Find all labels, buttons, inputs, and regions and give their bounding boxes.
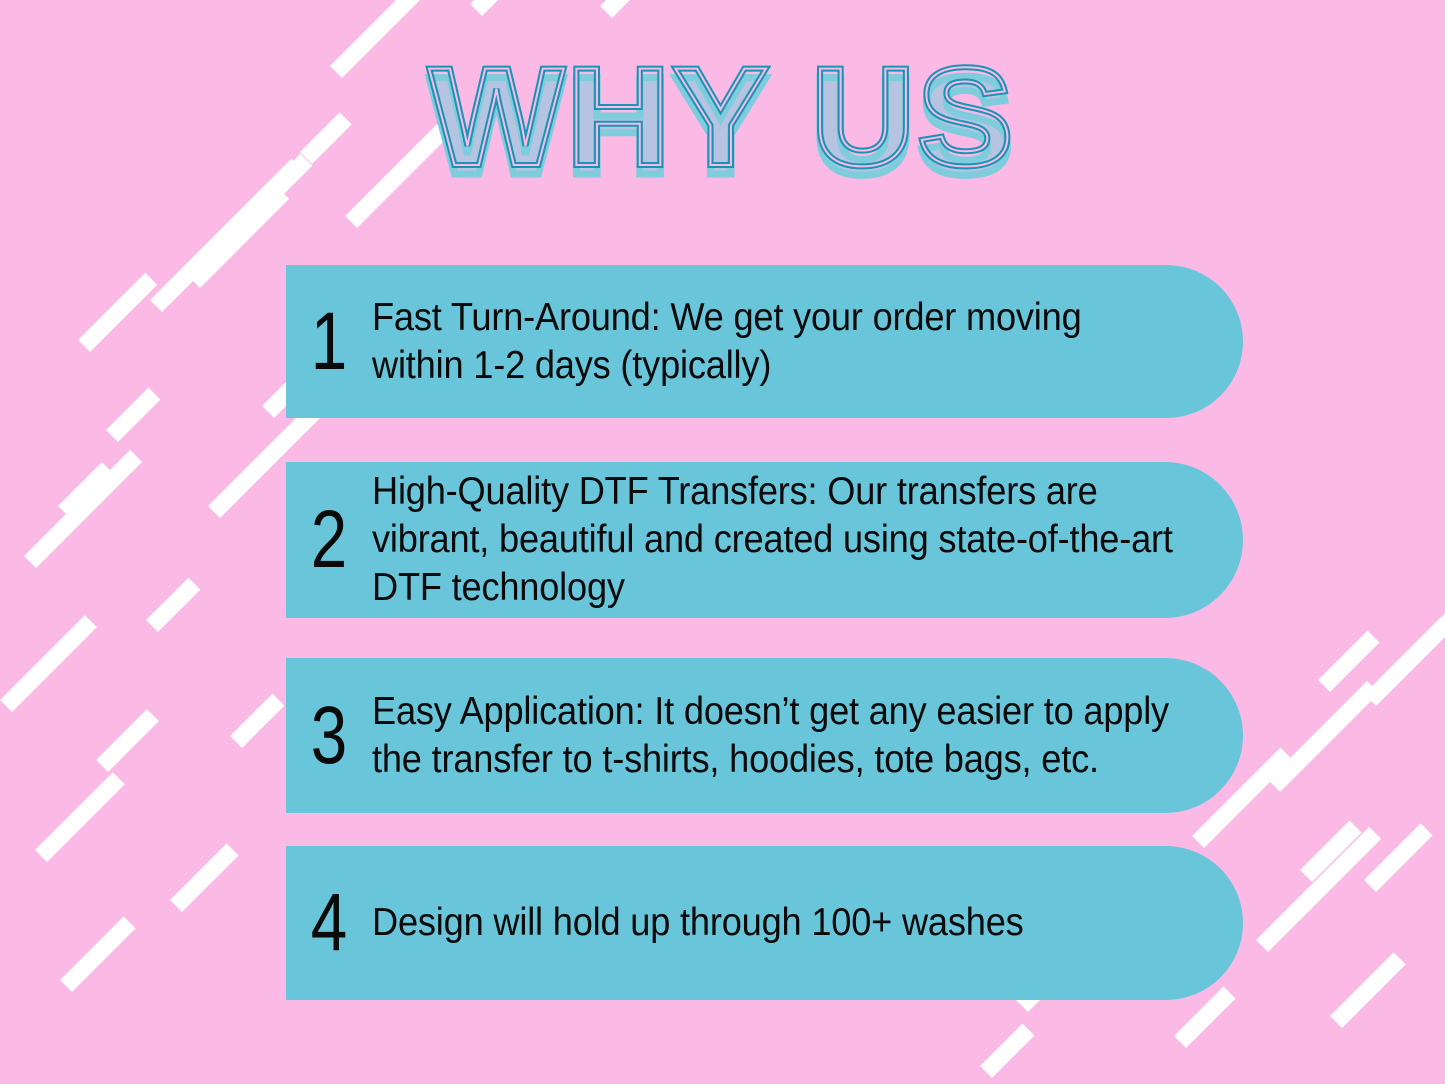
title-inner-cut-layer: WHY US <box>0 42 1445 192</box>
decorative-stripe <box>106 388 160 442</box>
benefit-number-2: 2 <box>295 499 364 581</box>
benefit-text-3: Easy Application: It doesn’t get any eas… <box>372 688 1191 784</box>
decorative-stripe <box>146 578 200 632</box>
benefit-text-1: Fast Turn-Around: We get your order movi… <box>372 294 1191 390</box>
decorative-stripe <box>230 694 284 748</box>
decorative-stripe <box>1364 531 1445 706</box>
decorative-stripe <box>0 615 97 712</box>
why-us-infographic: WHY US WHY US WHY US WHY US 1 Fast Turn-… <box>0 0 1445 1084</box>
decorative-stripe <box>1364 823 1433 892</box>
benefit-item-3: 3 Easy Application: It doesn’t get any e… <box>286 658 1243 813</box>
benefit-number-1: 1 <box>295 301 364 383</box>
decorative-stripe <box>1256 827 1381 952</box>
decorative-stripe <box>470 0 567 16</box>
benefit-item-4: 4 Design will hold up through 100+ washe… <box>286 846 1243 1000</box>
benefit-number-4: 4 <box>295 882 364 964</box>
decorative-stripe <box>980 1024 1034 1078</box>
decorative-stripe <box>58 462 114 518</box>
decorative-stripe <box>1300 821 1362 883</box>
benefit-text-4: Design will hold up through 100+ washes <box>372 899 1191 947</box>
benefit-item-2: 2 High-Quality DTF Transfers: Our transf… <box>286 462 1243 618</box>
decorative-stripe <box>35 772 125 862</box>
decorative-stripe <box>24 450 142 568</box>
decorative-stripe <box>1268 681 1379 792</box>
decorative-stripe <box>1318 631 1380 693</box>
benefit-item-1: 1 Fast Turn-Around: We get your order mo… <box>286 265 1243 418</box>
decorative-stripe <box>96 709 159 772</box>
decorative-stripe <box>188 187 289 288</box>
decorative-stripe <box>60 916 136 992</box>
benefit-text-2: High-Quality DTF Transfers: Our transfer… <box>372 468 1191 612</box>
decorative-stripe <box>170 843 239 912</box>
decorative-stripe <box>600 0 654 18</box>
page-title: WHY US WHY US WHY US WHY US <box>0 42 1445 192</box>
benefit-number-3: 3 <box>295 695 364 777</box>
decorative-stripe <box>78 273 157 352</box>
decorative-stripe <box>1330 952 1406 1028</box>
